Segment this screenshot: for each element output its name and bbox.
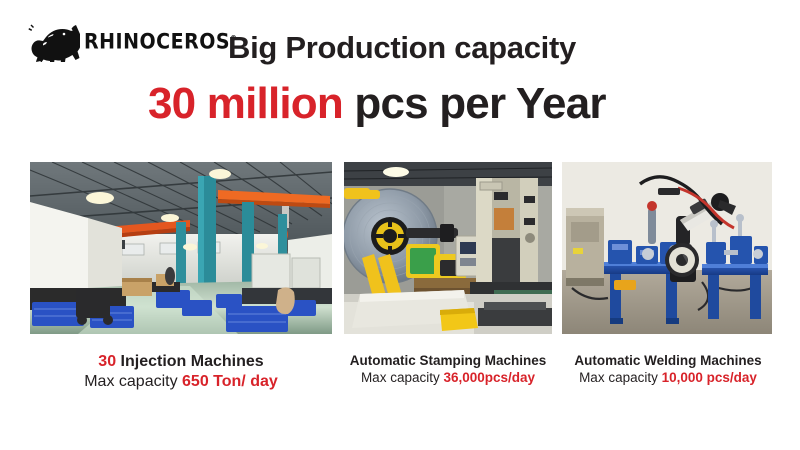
caption-label: Max capacity xyxy=(84,373,182,390)
caption-stamping: Automatic Stamping Machines Max capacity… xyxy=(337,353,559,387)
headline-primary: Big Production capacity xyxy=(228,30,576,66)
caption-value: 650 Ton/ day xyxy=(182,373,278,390)
rhinoceros-logo-icon xyxy=(28,22,80,62)
caption-title: Automatic Welding Machines xyxy=(574,353,761,368)
caption-welding: Automatic Welding Machines Max capacity … xyxy=(557,353,779,387)
headline-highlight: 30 million xyxy=(148,79,343,128)
caption-label: Max capacity xyxy=(361,370,444,385)
caption-label: Max capacity xyxy=(579,370,662,385)
headline-secondary: 30 million pcs per Year xyxy=(148,79,606,129)
caption-line-2: Max capacity 10,000 pcs/day xyxy=(557,370,779,387)
caption-line-1: 30 Injection Machines xyxy=(30,352,332,372)
headline-suffix: pcs per Year xyxy=(343,79,606,128)
automatic-stamping-machine-photo xyxy=(344,162,552,334)
caption-line-2: Max capacity 650 Ton/ day xyxy=(30,372,332,392)
caption-value: 10,000 pcs/day xyxy=(662,370,757,385)
caption-line-1: Automatic Welding Machines xyxy=(557,353,779,370)
caption-line-1: Automatic Stamping Machines xyxy=(337,353,559,370)
automatic-welding-machine-photo xyxy=(562,162,772,334)
caption-injection: 30 Injection Machines Max capacity 650 T… xyxy=(30,352,332,392)
caption-line-2: Max capacity 36,000pcs/day xyxy=(337,370,559,387)
brand-name-text: RHINOCEROS xyxy=(84,29,230,54)
brand-logo-wordmark: RHINOCEROS® xyxy=(84,31,238,52)
caption-value: 36,000pcs/day xyxy=(443,370,535,385)
injection-molding-workshop-photo xyxy=(30,162,332,334)
brand-logo: RHINOCEROS® xyxy=(28,20,203,64)
caption-highlight: 30 xyxy=(98,353,116,370)
caption-title: Automatic Stamping Machines xyxy=(350,353,547,368)
caption-title: Injection Machines xyxy=(116,353,264,370)
header-banner: RHINOCEROS® Big Production capacity 30 m… xyxy=(0,0,800,150)
